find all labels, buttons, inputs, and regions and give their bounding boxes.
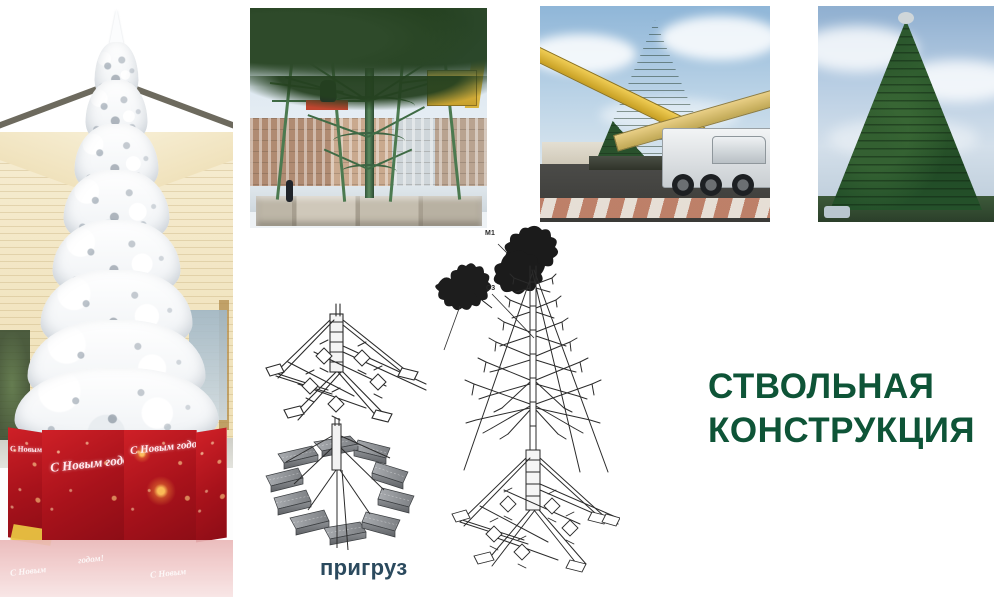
photo2-tree-canopy — [250, 8, 487, 94]
diagram-base-support-frame — [258, 300, 428, 428]
photo1-base-sparkle — [42, 430, 124, 540]
photo1-reflection-text: годом! — [78, 553, 105, 566]
photo1-reflection-text: С Новым — [150, 566, 187, 580]
headline: СТВОЛЬНАЯ КОНСТРУКЦИЯ — [708, 368, 988, 449]
photo3-truck-wheel — [672, 174, 694, 196]
photo1-base-panel: С Новым годом! — [8, 427, 43, 543]
part-label-c3: C3 — [486, 285, 495, 292]
headline-line-1: СТВОЛЬНАЯ — [708, 368, 988, 405]
photo1-snowflake — [144, 474, 178, 508]
photo3-truck-wheel — [700, 174, 722, 196]
photo-crane-lifting-tree — [540, 6, 770, 222]
photo3-cloud — [660, 16, 770, 60]
photo1-base-panel: С Новым годом! — [124, 430, 197, 540]
photo1-base-panel: С Новым годом! — [42, 430, 125, 540]
photo-frame-assembly — [250, 8, 487, 228]
slide-canvas: С Новым годом! С Новым годом! С Новым го… — [0, 0, 1000, 597]
photo-finished-green-tree — [818, 6, 994, 222]
part-label-m1: M1 — [485, 230, 495, 237]
branch-sample-detail — [435, 263, 492, 310]
photo3-truck-cab — [712, 136, 766, 164]
diagram-ballast-weights — [258, 418, 426, 553]
photo1-tree — [9, 8, 224, 453]
photo1-base-sparkle — [196, 428, 226, 543]
photo1-gift-base: С Новым годом! С Новым годом! С Новым го… — [8, 430, 226, 540]
photo2-bystander — [286, 180, 293, 202]
ballast-label: пригруз — [320, 555, 408, 581]
photo1-reflection: С Новым годом! С Новым — [0, 540, 233, 597]
photo4-vehicle — [824, 206, 850, 218]
photo4-tree-topper — [898, 12, 914, 24]
diagram-tree-skeleton — [430, 222, 620, 590]
photo-white-flocked-tree: С Новым годом! С Новым годом! С Новым го… — [0, 0, 233, 597]
photo1-base-panel — [196, 428, 227, 543]
base-frame-linework — [258, 300, 428, 428]
tree-skeleton-linework — [430, 222, 620, 590]
photo3-truck-wheel — [732, 174, 754, 196]
ballast-linework — [258, 418, 426, 553]
headline-line-2: КОНСТРУКЦИЯ — [708, 412, 988, 449]
photo3-crosswalk — [540, 198, 770, 218]
photo1-reflection-text: С Новым — [10, 564, 47, 578]
